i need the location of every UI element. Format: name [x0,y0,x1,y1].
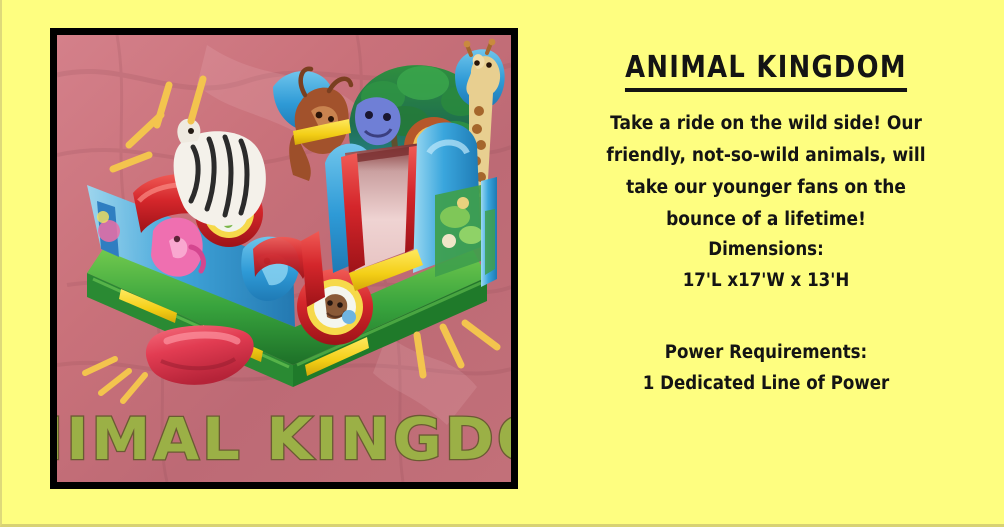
inflatable-right-wall [481,177,497,287]
dimensions-value: 17'L x17'W x 13'H [550,265,982,296]
dimensions-label: Dimensions: [550,234,982,265]
bounce-house-illustration: ANIMAL KINGDOM [57,35,511,482]
product-photo-frame: ANIMAL KINGDOM [50,28,518,489]
photo-caption: ANIMAL KINGDOM [57,406,511,473]
power-label: Power Requirements: [550,337,982,368]
product-description: Take a ride on the wild side! Our friend… [593,108,939,236]
product-info-column: ANIMAL KINGDOM Take a ride on the wild s… [526,0,1004,527]
product-photo: ANIMAL KINGDOM [57,35,511,482]
page-title-text: ANIMAL KINGDOM [625,50,907,92]
dimensions-block: Dimensions: 17'L x17'W x 13'H [526,234,1004,296]
power-value: 1 Dedicated Line of Power [550,368,982,399]
product-detail-page: ANIMAL KINGDOM ANIMAL KINGDOM Take a rid… [0,0,1004,527]
power-block: Power Requirements: 1 Dedicated Line of … [526,337,1004,399]
page-title: ANIMAL KINGDOM [560,50,973,85]
